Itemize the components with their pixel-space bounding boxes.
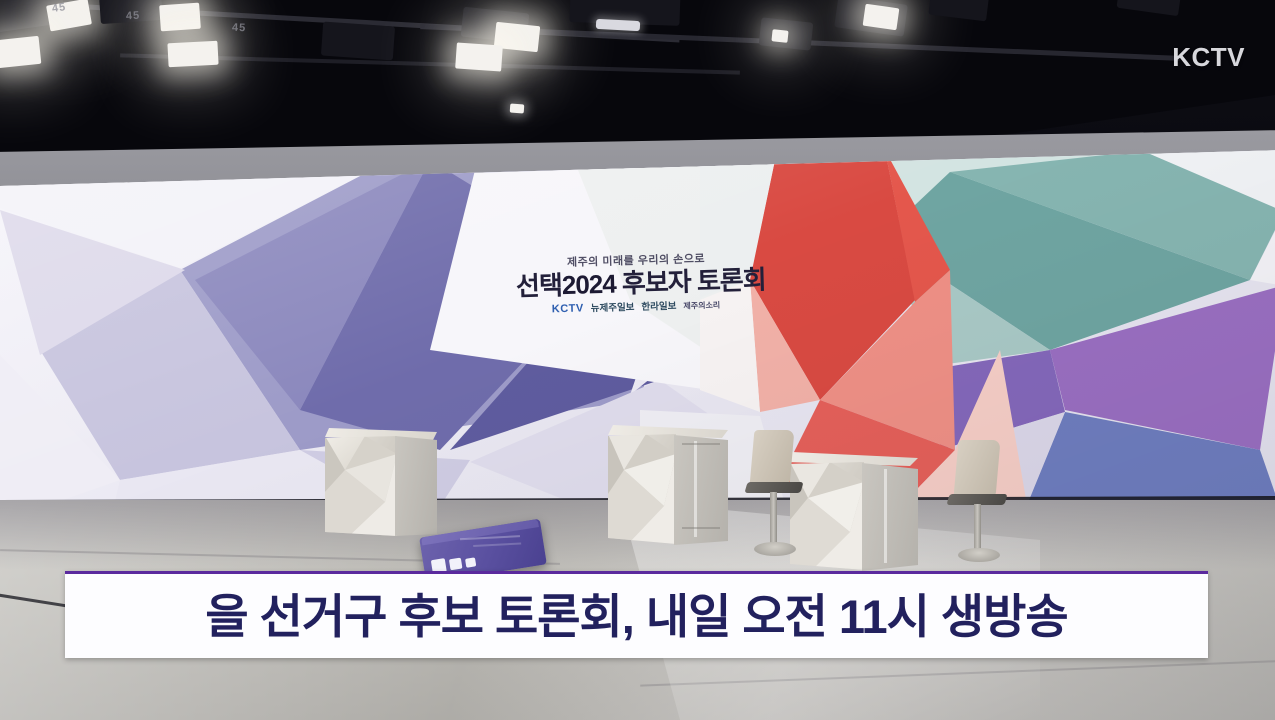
studio-light: [510, 104, 525, 114]
studio-light: [863, 4, 900, 31]
truss-label: 45: [51, 1, 67, 15]
prop-logo-mark: [449, 558, 463, 571]
debate-podium-right: [790, 452, 918, 570]
partner-hallailbo: 한라일보: [641, 298, 676, 313]
truss-label: 45: [126, 10, 141, 23]
podium-side-panel: [862, 461, 918, 571]
partner-jejusori: 제주의소리: [683, 300, 720, 312]
channel-logo-bug: KCTV: [1172, 42, 1245, 73]
prop-highlight: [473, 542, 521, 547]
podium-seam: [682, 443, 720, 445]
podium-side-panel: [674, 433, 728, 545]
partner-newjejuilbo: 뉴제주일보: [591, 299, 635, 314]
podium-front-panel: [325, 436, 397, 536]
studio-light: [0, 36, 41, 68]
stool-pole: [974, 504, 981, 554]
truss-label: 45: [232, 22, 247, 34]
podium-side-panel: [395, 434, 437, 536]
broadcast-frame: 45 45 45: [0, 0, 1275, 720]
logo-title-prefix: 선택: [516, 270, 563, 301]
stool-pole: [770, 492, 777, 548]
stool-backrest: [750, 430, 795, 486]
debate-podium-center: [608, 425, 728, 545]
prop-logo-mark: [465, 557, 476, 567]
stool-backrest: [953, 440, 1000, 498]
studio-light-housing: [321, 22, 395, 61]
podium-seam: [884, 469, 887, 563]
logo-title-suffix: 후보자 토론회: [622, 264, 767, 298]
stool-base: [958, 548, 1000, 562]
debate-podium-left: [325, 428, 437, 538]
lower-third-caption-bar: 을 선거구 후보 토론회, 내일 오전 11시 생방송: [65, 571, 1208, 658]
logo-title: 선택2024 후보자 토론회: [516, 267, 757, 300]
studio-light: [455, 42, 503, 71]
stool-base: [754, 542, 796, 556]
podium-seam: [682, 527, 720, 529]
logo-title-year: 2024: [561, 269, 616, 300]
podium-front-panel: [608, 434, 676, 544]
podium-seam: [694, 441, 697, 537]
studio-light: [159, 3, 201, 32]
caption-text: 을 선거구 후보 토론회, 내일 오전 11시 생방송: [205, 593, 1067, 640]
stool-center: [746, 430, 806, 560]
partner-kctv: KCTV: [552, 302, 584, 315]
studio-light: [167, 41, 218, 68]
stool-right: [948, 440, 1010, 570]
debate-logo: 제주의 미래를 우리의 손으로 선택2024 후보자 토론회 KCTV 뉴제주일…: [516, 252, 756, 313]
studio-light: [771, 29, 788, 43]
